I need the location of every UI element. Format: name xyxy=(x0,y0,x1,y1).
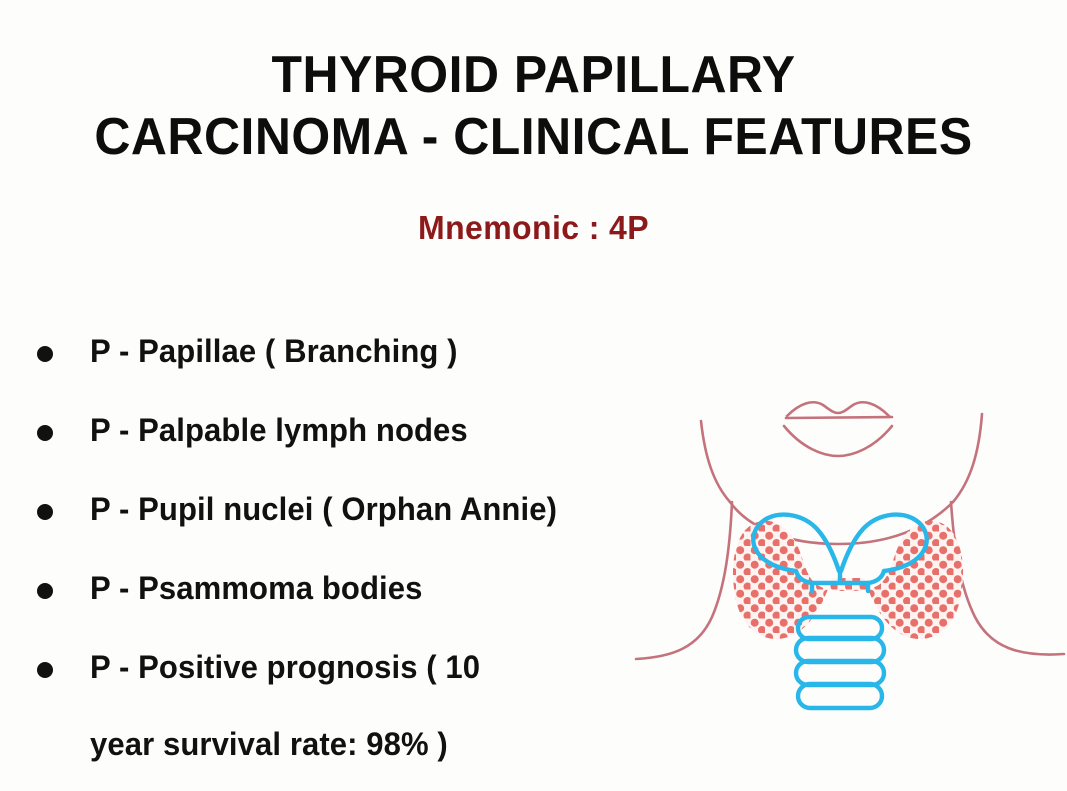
trachea-rings xyxy=(796,617,884,708)
skin-line-art xyxy=(636,402,1064,659)
page-title-line-2: CARCINOMA - CLINICAL FEATURES xyxy=(21,106,1045,168)
bullet-dot-icon xyxy=(37,425,53,441)
list-item-label: P - Pupil nuclei ( Orphan Annie) xyxy=(90,488,631,530)
trachea-ring xyxy=(796,638,884,662)
infographic-page: THYROID PAPILLARY CARCINOMA - CLINICAL F… xyxy=(0,0,1067,791)
bullet-dot-icon xyxy=(37,583,53,599)
lips-mouth-line xyxy=(786,417,892,418)
bullet-dot-icon xyxy=(37,662,53,678)
trachea-ring xyxy=(796,661,884,685)
list-item: P - Psammoma bodies xyxy=(28,567,648,646)
neck-left-line xyxy=(701,421,730,502)
clinical-features-list: P - Papillae ( Branching ) P - Palpable … xyxy=(28,330,648,765)
shoulder-left-line xyxy=(636,502,732,659)
list-item-label: P - Papillae ( Branching ) xyxy=(90,330,631,372)
neck-right-line xyxy=(953,414,982,502)
shoulder-right-line xyxy=(951,502,1064,655)
list-item-label-continuation: year survival rate: 98% ) xyxy=(90,723,631,765)
list-item: P - Palpable lymph nodes xyxy=(28,409,648,488)
list-item-label: P - Palpable lymph nodes xyxy=(90,409,631,451)
list-item-label: P - Psammoma bodies xyxy=(90,567,631,609)
list-item: P - Papillae ( Branching ) xyxy=(28,330,648,409)
lips-upper-outline xyxy=(787,402,889,416)
list-item: P - Pupil nuclei ( Orphan Annie) xyxy=(28,488,648,567)
thyroid-gland-neck-diagram xyxy=(620,372,1067,791)
page-title-line-1: THYROID PAPILLARY xyxy=(21,44,1045,106)
bullet-dot-icon xyxy=(37,504,53,520)
lips-lower-outline xyxy=(784,426,892,456)
list-item-label: P - Positive prognosis ( 10 xyxy=(90,646,631,688)
trachea-ring xyxy=(798,684,882,708)
mnemonic-subtitle: Mnemonic : 4P xyxy=(16,208,1051,248)
bullet-dot-icon xyxy=(37,346,53,362)
page-title: THYROID PAPILLARY CARCINOMA - CLINICAL F… xyxy=(0,44,1067,168)
list-item: P - Positive prognosis ( 10 year surviva… xyxy=(28,646,648,765)
